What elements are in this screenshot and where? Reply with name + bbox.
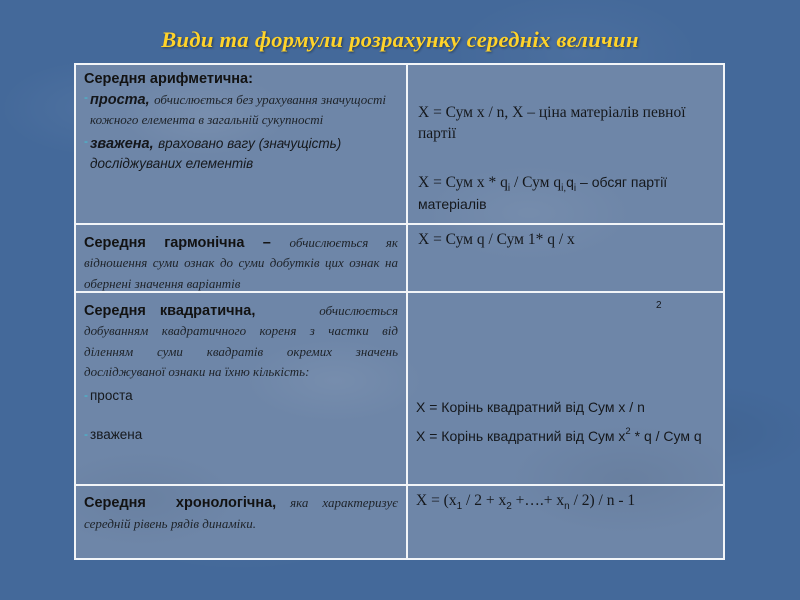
formula-chronological-mid2: +….+ x bbox=[512, 492, 564, 509]
cell-chronological-description: Середня хронологічна, яка характеризує с… bbox=[76, 486, 408, 558]
bullet-item-body: проста, обчислюється без урахування знач… bbox=[90, 90, 398, 131]
row-heading-chronological-word2: хронологічна, bbox=[176, 495, 276, 511]
bullet-term-prosta: проста, bbox=[90, 92, 150, 108]
table-row: Середня арифметична: - проста, обчислюєт… bbox=[76, 65, 723, 225]
bullet-term-quadratic-zvazhena: зважена bbox=[90, 427, 142, 442]
row-heading-chronological-tail: яка bbox=[290, 495, 308, 510]
formula-harmonic: X = Сум q / Сум 1* q / x bbox=[418, 230, 575, 251]
formula-quadratic-weighted-superscript: 2 bbox=[625, 426, 630, 437]
cell-chronological-formula: X = (x1 / 2 + x2 +….+ xn / 2) / n - 1 bbox=[408, 486, 723, 558]
formula-chronological: X = (x1 / 2 + x2 +….+ xn / 2) / n - 1 bbox=[416, 491, 635, 513]
dash-bullet-icon: - bbox=[84, 427, 88, 442]
formula-quadratic-simple: X = Корінь квадратний від Сум x / n bbox=[416, 398, 716, 417]
table-row: Середня хронологічна, яка характеризує с… bbox=[76, 486, 723, 558]
cell-quadratic-formula: 2 X = Корінь квадратний від Сум x / n X … bbox=[408, 293, 723, 484]
bullet-item: - проста, обчислюється без урахування зн… bbox=[84, 90, 398, 131]
dash-bullet-icon: - bbox=[84, 134, 88, 149]
row-heading-quadratic-word2: квадратична, bbox=[160, 303, 255, 319]
row-heading-quadratic-word1: Середня bbox=[84, 303, 146, 319]
formula-quadratic-weighted-b: * q / Сум q bbox=[631, 428, 702, 444]
chronological-paragraph: Середня хронологічна, яка характеризує с… bbox=[84, 493, 398, 535]
row-heading-arithmetic: Середня арифметична: bbox=[84, 71, 398, 87]
spacer bbox=[84, 403, 142, 427]
formula-quadratic-weighted: X = Корінь квадратний від Сум x2 * q / С… bbox=[416, 427, 716, 446]
formula-arithmetic-weighted-main: X = Сум x * q bbox=[418, 174, 508, 191]
cell-arithmetic-description: Середня арифметична: - проста, обчислюєт… bbox=[76, 65, 408, 223]
bullet-item: - зважена bbox=[84, 427, 142, 442]
formula-arithmetic-simple: X = Сум x / n, X – ціна матеріалів певно… bbox=[418, 103, 718, 145]
formula-arithmetic-weighted-mid: / Сум q bbox=[510, 174, 561, 191]
harmonic-paragraph: Середня гармонічна – обчислюється як від… bbox=[84, 233, 398, 291]
table-row: Середня гармонічна – обчислюється як від… bbox=[76, 225, 723, 293]
formula-legend-q-bold: q bbox=[566, 174, 574, 190]
cell-arithmetic-formula: X = Сум x / n, X – ціна матеріалів певно… bbox=[408, 65, 723, 223]
formula-chronological-prefix: X = (x bbox=[416, 492, 457, 509]
cell-harmonic-formula: X = Сум q / Сум 1* q / x bbox=[408, 225, 723, 291]
formula-harmonic-text: X = Сум q / Сум 1* q / x bbox=[418, 231, 575, 248]
table-row: Середня квадратична, обчислюється добува… bbox=[76, 293, 723, 486]
row-heading-harmonic: Середня гармонічна – bbox=[84, 235, 271, 251]
formula-chronological-mid1: / 2 + x bbox=[462, 492, 506, 509]
bullet-term-quadratic-prosta: проста bbox=[90, 388, 133, 403]
formula-arithmetic-weighted: X = Сум x * qi / Сум qi,qi – обсяг парті… bbox=[418, 173, 718, 214]
row-heading-chronological-word1: Середня bbox=[84, 495, 146, 511]
formula-chronological-tail: / 2) / n - 1 bbox=[570, 492, 635, 509]
page-title: Види та формули розрахунку середніх вели… bbox=[0, 27, 800, 53]
formula-quadratic-superscript-top: 2 bbox=[656, 300, 662, 311]
row-heading-chronological: Середня хронологічна, bbox=[84, 494, 276, 513]
bullet-item-body: зважена, враховано вагу (значущість) дос… bbox=[90, 134, 398, 175]
quadratic-bullet-list: - проста - зважена bbox=[84, 388, 142, 442]
row-heading-quadratic: Середня квадратична, bbox=[84, 302, 255, 321]
averages-formula-table: Середня арифметична: - проста, обчислюєт… bbox=[74, 63, 725, 560]
formula-quadratic-simple-text: X = Корінь квадратний від Сум x / n bbox=[416, 399, 645, 415]
bullet-item: - зважена, враховано вагу (значущість) д… bbox=[84, 134, 398, 175]
bullet-item: - проста bbox=[84, 388, 142, 403]
formula-quadratic-weighted-a: X = Корінь квадратний від Сум x bbox=[416, 428, 625, 444]
bullet-term-zvazhena: зважена, bbox=[90, 136, 154, 152]
dash-bullet-icon: - bbox=[84, 90, 88, 105]
cell-harmonic-description: Середня гармонічна – обчислюється як від… bbox=[76, 225, 408, 291]
quadratic-paragraph: Середня квадратична, обчислюється добува… bbox=[84, 301, 398, 383]
formula-arithmetic-simple-text: X = Сум x / n, X – ціна матеріалів певно… bbox=[418, 104, 686, 142]
dash-bullet-icon: - bbox=[84, 388, 88, 403]
cell-quadratic-description: Середня квадратична, обчислюється добува… bbox=[76, 293, 408, 484]
